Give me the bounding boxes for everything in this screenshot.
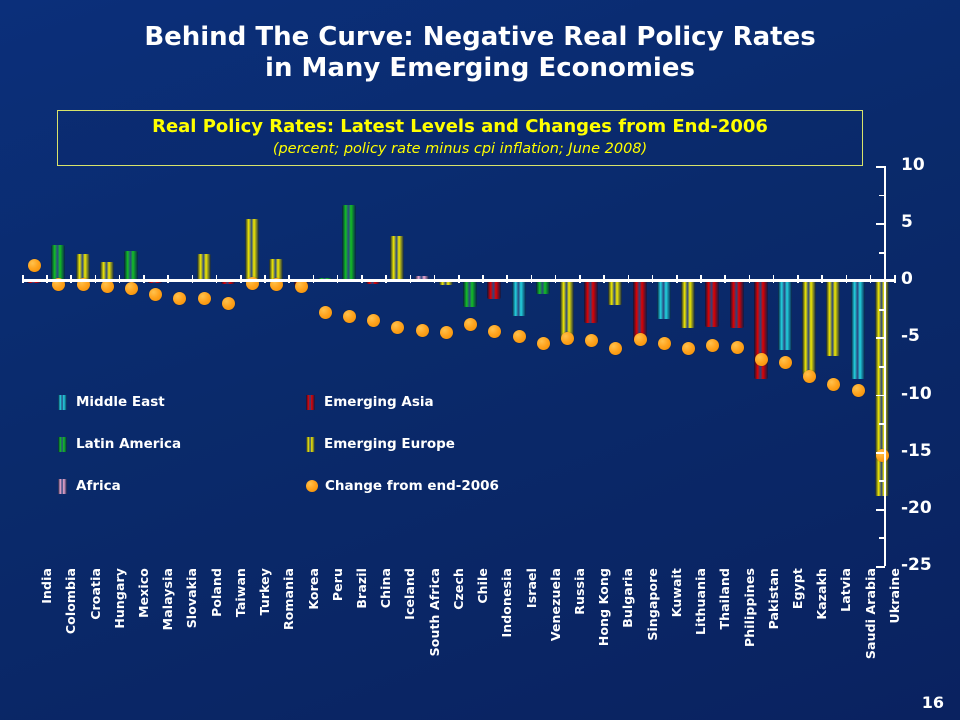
x-label-croatia: Croatia <box>88 568 103 620</box>
x-label-latvia: Latvia <box>838 568 853 612</box>
x-axis-tick <box>749 275 751 283</box>
x-label-hungary: Hungary <box>112 568 127 629</box>
change-dot-latvia <box>827 378 840 391</box>
change-dot-czech <box>440 326 453 339</box>
legend-item-emerging-europe: Emerging Europe <box>306 436 455 452</box>
x-axis-tick <box>313 275 315 283</box>
y-axis-label: -20 <box>901 500 932 517</box>
bar-philippines <box>730 280 744 328</box>
x-axis-tick <box>46 275 48 283</box>
chart-subtitle-units: (percent; policy rate minus cpi inflatio… <box>58 141 862 157</box>
change-dot-south-africa <box>416 324 429 337</box>
y-axis-tick <box>876 280 885 282</box>
legend-item-africa: Africa <box>58 478 121 494</box>
x-label-south-africa: South Africa <box>427 568 442 656</box>
change-dot-venezuela <box>537 337 550 350</box>
bar-chile <box>463 280 477 306</box>
change-dot-lithuania <box>682 342 695 355</box>
x-axis-tick <box>652 275 654 283</box>
legend-item-latin-america: Latin America <box>58 436 181 452</box>
y-axis-minor-tick <box>879 480 885 482</box>
x-axis-tick <box>22 275 24 283</box>
legend-label: Change from end-2006 <box>325 478 499 494</box>
bar-brazil <box>342 205 356 280</box>
x-axis-tick <box>192 275 194 283</box>
change-dot-kazakh <box>803 370 816 383</box>
x-label-philippines: Philippines <box>742 568 757 647</box>
change-dot-brazil <box>343 310 356 323</box>
page-title: Behind The Curve: Negative Real Policy R… <box>0 22 960 84</box>
x-axis-tick <box>603 275 605 283</box>
bar-lithuania <box>681 280 695 328</box>
x-axis-tick <box>119 275 121 283</box>
legend-label: Middle East <box>76 394 165 410</box>
x-label-israel: Israel <box>524 568 539 608</box>
x-axis-tick <box>264 275 266 283</box>
bar-latvia <box>826 280 840 355</box>
x-axis-tick <box>724 275 726 283</box>
bar-bulgaria <box>608 280 622 305</box>
y-axis-label: -25 <box>901 557 932 574</box>
title-line-1: Behind The Curve: Negative Real Policy R… <box>0 22 960 53</box>
change-dot-chile <box>464 318 477 331</box>
bar-hong-kong <box>584 280 598 322</box>
bar-series-container <box>22 166 894 566</box>
change-dot-egypt <box>779 356 792 369</box>
x-axis-tick <box>555 275 557 283</box>
x-label-ukraine: Ukraine <box>887 568 902 623</box>
x-label-romania: Romania <box>281 568 296 630</box>
bar-indonesia <box>487 280 501 298</box>
y-axis-label: -15 <box>901 443 932 460</box>
x-axis-tick <box>797 275 799 283</box>
y-axis-label: 5 <box>901 214 913 231</box>
legend-swatch-icon <box>58 479 67 494</box>
bar-mexico <box>124 251 138 281</box>
x-label-saudi-arabia: Saudi Arabia <box>863 568 878 659</box>
change-dot-singapore <box>634 333 647 346</box>
x-label-pakistan: Pakistan <box>766 568 781 629</box>
x-axis-tick <box>773 275 775 283</box>
x-axis-tick <box>676 275 678 283</box>
x-label-turkey: Turkey <box>257 568 272 615</box>
change-dot-peru <box>319 306 332 319</box>
y-axis-label: 10 <box>901 157 925 174</box>
x-label-iceland: Iceland <box>402 568 417 620</box>
x-label-hong-kong: Hong Kong <box>596 568 611 646</box>
chart-plot-area <box>22 166 894 566</box>
x-axis-tick <box>482 275 484 283</box>
x-axis-tick <box>70 275 72 283</box>
x-label-peru: Peru <box>330 568 345 601</box>
y-axis-minor-tick <box>879 309 885 311</box>
x-label-thailand: Thailand <box>717 568 732 630</box>
bar-turkey <box>245 219 259 281</box>
x-label-bulgaria: Bulgaria <box>620 568 635 628</box>
change-dot-taiwan <box>222 297 235 310</box>
x-axis-tick <box>216 275 218 283</box>
legend-item-change-from-end-2006: Change from end-2006 <box>306 478 499 494</box>
x-label-singapore: Singapore <box>645 568 660 641</box>
change-dot-thailand <box>706 339 719 352</box>
chart-legend: Middle EastEmerging AsiaLatin AmericaEme… <box>58 394 618 504</box>
x-axis-tick <box>337 275 339 283</box>
legend-label: Emerging Europe <box>324 436 455 452</box>
bar-saudi-arabia <box>851 280 865 378</box>
x-label-korea: Korea <box>306 568 321 610</box>
y-axis-tick <box>876 395 885 397</box>
x-label-lithuania: Lithuania <box>693 568 708 635</box>
legend-swatch-icon <box>306 395 315 410</box>
x-label-kuwait: Kuwait <box>669 568 684 617</box>
slide-canvas: Behind The Curve: Negative Real Policy R… <box>0 0 960 720</box>
bar-poland <box>197 254 211 280</box>
bar-singapore <box>633 280 647 341</box>
legend-swatch-icon <box>58 395 67 410</box>
bar-ukraine <box>875 280 889 496</box>
x-axis-tick <box>143 275 145 283</box>
y-axis-tick <box>876 509 885 511</box>
x-axis-tick <box>846 275 848 283</box>
x-axis-tick <box>821 275 823 283</box>
change-dot-israel <box>513 330 526 343</box>
y-axis-label: -5 <box>901 328 920 345</box>
change-dot-indonesia <box>488 325 501 338</box>
change-dot-china <box>367 314 380 327</box>
bar-romania <box>269 259 283 281</box>
change-dot-iceland <box>391 321 404 334</box>
x-label-russia: Russia <box>572 568 587 615</box>
x-axis-tick <box>458 275 460 283</box>
change-dot-kuwait <box>658 337 671 350</box>
change-dot-malaysia <box>149 288 162 301</box>
change-dot-hong-kong <box>585 334 598 347</box>
y-axis-tick <box>876 223 885 225</box>
legend-label: Emerging Asia <box>324 394 434 410</box>
x-label-egypt: Egypt <box>790 568 805 609</box>
x-label-india: India <box>39 568 54 604</box>
chart-subtitle-main: Real Policy Rates: Latest Levels and Cha… <box>58 116 862 137</box>
chart-subtitle-box: Real Policy Rates: Latest Levels and Cha… <box>57 110 863 166</box>
y-axis-tick <box>876 452 885 454</box>
y-axis-minor-tick <box>879 252 885 254</box>
x-label-czech: Czech <box>451 568 466 610</box>
change-dot-slovakia <box>173 292 186 305</box>
legend-label: Africa <box>76 478 121 494</box>
change-dot-bulgaria <box>609 342 622 355</box>
y-axis-minor-tick <box>879 423 885 425</box>
bar-israel <box>512 280 526 315</box>
change-dot-philippines <box>731 341 744 354</box>
x-axis-tick <box>506 275 508 283</box>
change-dot-poland <box>198 292 211 305</box>
y-axis-minor-tick <box>879 537 885 539</box>
bar-kuwait <box>657 280 671 319</box>
x-axis-tick <box>361 275 363 283</box>
x-label-chile: Chile <box>475 568 490 604</box>
x-axis-tick <box>240 275 242 283</box>
x-label-mexico: Mexico <box>136 568 151 618</box>
x-label-slovakia: Slovakia <box>184 568 199 628</box>
x-label-malaysia: Malaysia <box>160 568 175 630</box>
x-axis-tick <box>385 275 387 283</box>
change-dot-saudi-arabia <box>852 384 865 397</box>
x-axis-tick <box>95 275 97 283</box>
bar-iceland <box>390 236 404 281</box>
x-label-poland: Poland <box>209 568 224 617</box>
change-dot-india <box>28 259 41 272</box>
legend-swatch-icon <box>58 437 67 452</box>
x-axis-tick <box>894 275 896 283</box>
change-dot-pakistan <box>755 353 768 366</box>
x-axis-tick <box>167 275 169 283</box>
x-label-colombia: Colombia <box>63 568 78 634</box>
x-axis-tick <box>410 275 412 283</box>
bar-thailand <box>705 280 719 327</box>
page-number: 16 <box>922 693 944 712</box>
bar-hungary <box>100 262 114 280</box>
bar-colombia <box>51 245 65 280</box>
legend-item-middle-east: Middle East <box>58 394 165 410</box>
bar-egypt <box>778 280 792 350</box>
legend-item-emerging-asia: Emerging Asia <box>306 394 434 410</box>
x-axis-tick <box>288 275 290 283</box>
y-axis-minor-tick <box>879 195 885 197</box>
change-dot-ukraine <box>876 449 889 462</box>
bar-kazakh <box>802 280 816 375</box>
bar-venezuela <box>536 280 550 294</box>
bar-russia <box>560 280 574 339</box>
x-axis-tick <box>531 275 533 283</box>
legend-label: Latin America <box>76 436 181 452</box>
change-dot-russia <box>561 332 574 345</box>
title-line-2: in Many Emerging Economies <box>0 53 960 84</box>
x-axis-tick <box>870 275 872 283</box>
y-axis-label: -10 <box>901 386 932 403</box>
y-axis-tick <box>876 337 885 339</box>
x-label-indonesia: Indonesia <box>499 568 514 638</box>
x-axis-tick <box>628 275 630 283</box>
x-axis-tick <box>700 275 702 283</box>
x-axis-tick <box>434 275 436 283</box>
x-label-brazil: Brazil <box>354 568 369 609</box>
bar-croatia <box>76 254 90 280</box>
x-label-china: China <box>378 568 393 608</box>
x-axis-labels: IndiaColombiaCroatiaHungaryMexicoMalaysi… <box>22 568 894 688</box>
y-axis-tick <box>876 166 885 168</box>
y-axis-label: 0 <box>901 271 913 288</box>
x-label-kazakh: Kazakh <box>814 568 829 620</box>
x-label-taiwan: Taiwan <box>233 568 248 617</box>
legend-change-dot-icon <box>306 480 318 492</box>
x-label-venezuela: Venezuela <box>548 568 563 641</box>
x-axis-tick <box>579 275 581 283</box>
change-dot-mexico <box>125 282 138 295</box>
legend-swatch-icon <box>306 437 315 452</box>
y-axis-minor-tick <box>879 366 885 368</box>
